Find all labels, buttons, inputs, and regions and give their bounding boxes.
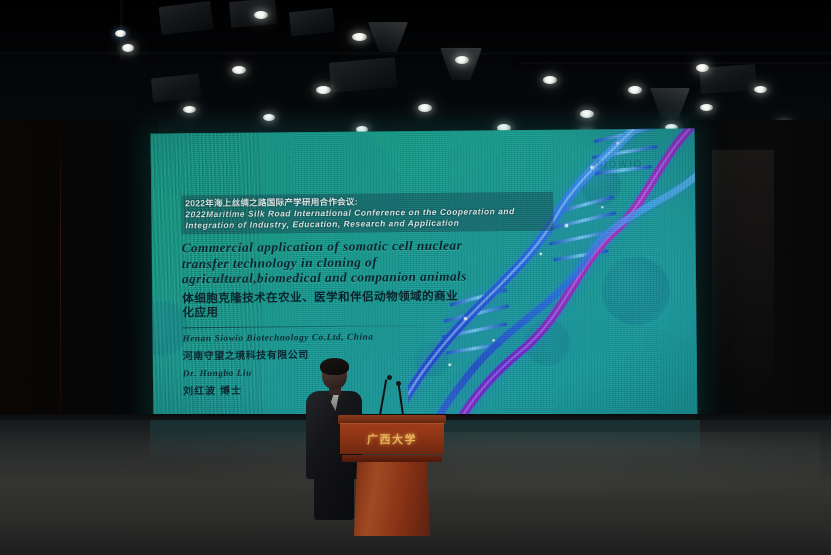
title-line-cn: 化应用: [182, 303, 482, 320]
side-curtain-left: [0, 120, 158, 420]
microphone-head: [387, 375, 392, 380]
ceiling-light: [122, 44, 134, 52]
floor-reflection: [120, 432, 820, 502]
stage-light-fixture: [158, 1, 213, 35]
siowio-watermark: SIOWIO: [596, 159, 643, 170]
title-line-cn: 体细胞克隆技术在农业、医学和伴侣动物领域的商业: [182, 289, 482, 306]
presentation-title-cn: 体细胞克隆技术在农业、医学和伴侣动物领域的商业 化应用: [182, 289, 482, 321]
led-screen: SIOWIO 2022年海上丝绸之路国际产学研用合作会议: 2022Mariti…: [151, 128, 698, 427]
divider-rule: [182, 325, 420, 328]
ceiling-light: [418, 104, 432, 112]
microphone-head: [396, 381, 401, 386]
stage-light-fixture: [289, 8, 335, 36]
speaker-name-en: Dr. Hongbo Liu: [183, 364, 578, 378]
conference-header-en: 2022Maritime Silk Road International Con…: [185, 206, 547, 230]
presenter-hair: [320, 358, 349, 375]
stage-light-fixture: [329, 57, 397, 93]
ceiling: [0, 0, 831, 140]
organization-en: Henan Siowio Biotechnology Co.Ltd, China: [183, 329, 578, 343]
ceiling-light: [580, 110, 594, 118]
ceiling-truss: [520, 62, 831, 64]
stage-light-fixture: [650, 88, 690, 118]
stage-light-fixture: [368, 22, 408, 52]
stage-scene: SIOWIO 2022年海上丝绸之路国际产学研用合作会议: 2022Mariti…: [0, 0, 831, 555]
ceiling-light: [543, 76, 557, 84]
ceiling-light: [115, 30, 126, 37]
ceiling-light: [183, 106, 196, 113]
podium-front-panel: 广西大学: [340, 423, 444, 454]
ceiling-light: [254, 11, 268, 19]
ceiling-light: [232, 66, 246, 74]
ceiling-light: [696, 64, 709, 72]
podium-trim: [342, 455, 442, 462]
ceiling-light: [263, 114, 275, 121]
conference-header-band: 2022年海上丝绸之路国际产学研用合作会议: 2022Maritime Silk…: [181, 192, 553, 235]
podium-column: [354, 462, 430, 536]
ceiling-light: [628, 86, 642, 94]
ceiling-light: [455, 56, 469, 64]
stage-light-fixture: [229, 0, 277, 28]
presentation-title-en: Commercial application of somatic cell n…: [182, 237, 554, 287]
ceiling-light: [754, 86, 767, 93]
ceiling-truss: [0, 52, 831, 55]
podium-university-logo: 广西大学: [340, 431, 444, 447]
ceiling-light: [352, 33, 367, 41]
title-line: agricultural,biomedical and companion an…: [182, 268, 554, 287]
podium: 广西大学: [338, 415, 446, 535]
ceiling-light: [700, 104, 713, 111]
slide-text-block: 2022年海上丝绸之路国际产学研用合作会议: 2022Maritime Silk…: [181, 192, 578, 397]
side-curtain-right: [690, 120, 831, 430]
stage-light-fixture: [151, 74, 201, 103]
ceiling-light: [316, 86, 331, 94]
organization-cn: 河南守望之境科技有限公司: [183, 343, 578, 362]
stage-light-fixture: [440, 48, 482, 80]
